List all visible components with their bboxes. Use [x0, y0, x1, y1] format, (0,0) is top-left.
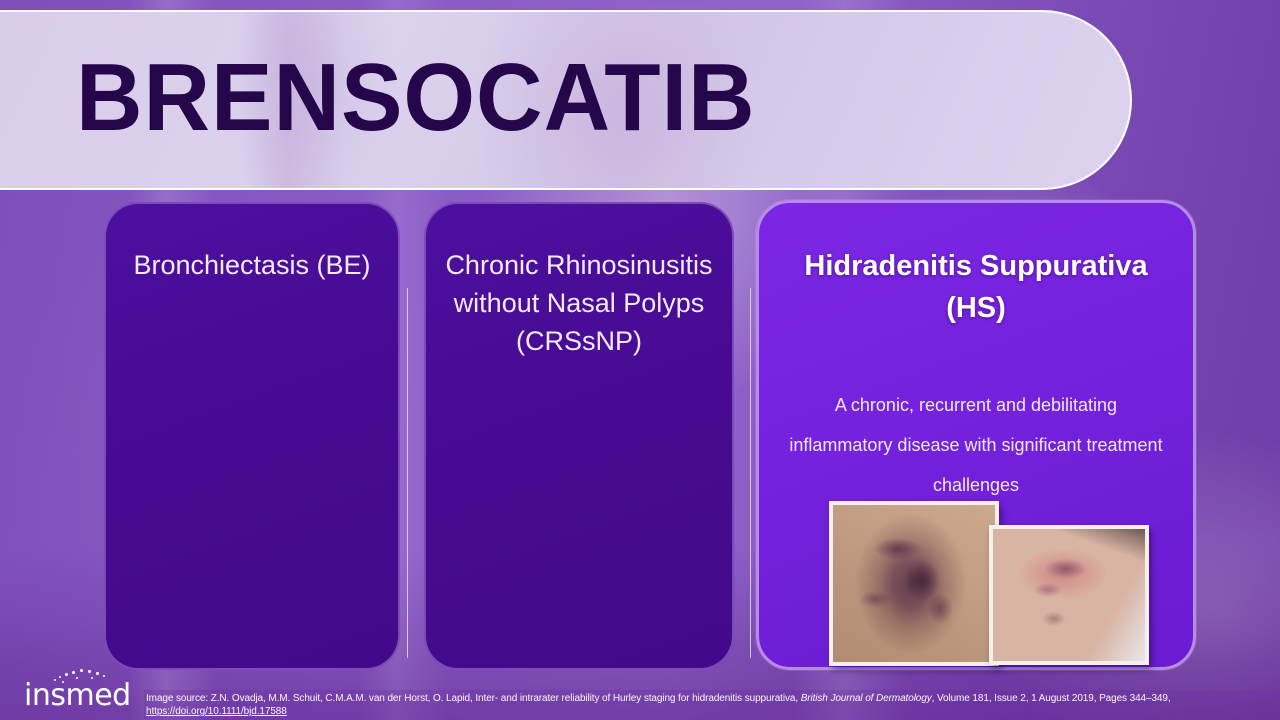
panel-crssnp[interactable]: Chronic Rhinosinusitis without Nasal Pol… [424, 202, 734, 670]
hs-photo-group [829, 501, 1159, 666]
panel-hidradenitis-suppurativa[interactable]: Hidradenitis Suppurativa (HS) A chronic,… [756, 200, 1196, 670]
panel-bronchiectasis-title: Bronchiectasis (BE) [106, 246, 398, 284]
image-source-caption-text: Image source: Z.N. Ovadja, M.M. Schuit, … [146, 692, 1280, 718]
panel-hidradenitis-suppurativa-title: Hidradenitis Suppurativa (HS) [759, 245, 1193, 329]
caption-prefix: Image source: Z.N. Ovadja, M.M. Schuit, … [146, 693, 801, 704]
insmed-logo: insmed [24, 668, 142, 714]
hs-groin-photo [989, 525, 1149, 665]
caption-doi-link[interactable]: https://doi.org/10.1111/bjd.17588 [146, 706, 287, 717]
panel-bronchiectasis[interactable]: Bronchiectasis (BE) [104, 202, 400, 670]
caption-middle: , Volume 181, Issue 2, 1 August 2019, Pa… [932, 693, 1171, 704]
panel-divider-2 [750, 288, 751, 658]
hs-axilla-photo [829, 501, 999, 666]
title-banner: BRENSOCATIB [0, 10, 1132, 190]
panel-crssnp-title: Chronic Rhinosinusitis without Nasal Pol… [426, 246, 732, 360]
image-source-caption: Image source: Z.N. Ovadja, M.M. Schuit, … [144, 690, 1280, 720]
page-title: BRENSOCATIB [76, 48, 756, 149]
panel-hidradenitis-suppurativa-description: A chronic, recurrent and debilitating in… [783, 385, 1169, 505]
caption-journal: British Journal of Dermatology [801, 693, 932, 704]
slide-root: BRENSOCATIB Bronchiectasis (BE) Chronic … [0, 0, 1280, 720]
insmed-logo-wordmark: insmed [24, 678, 131, 713]
panel-divider-1 [407, 288, 408, 658]
